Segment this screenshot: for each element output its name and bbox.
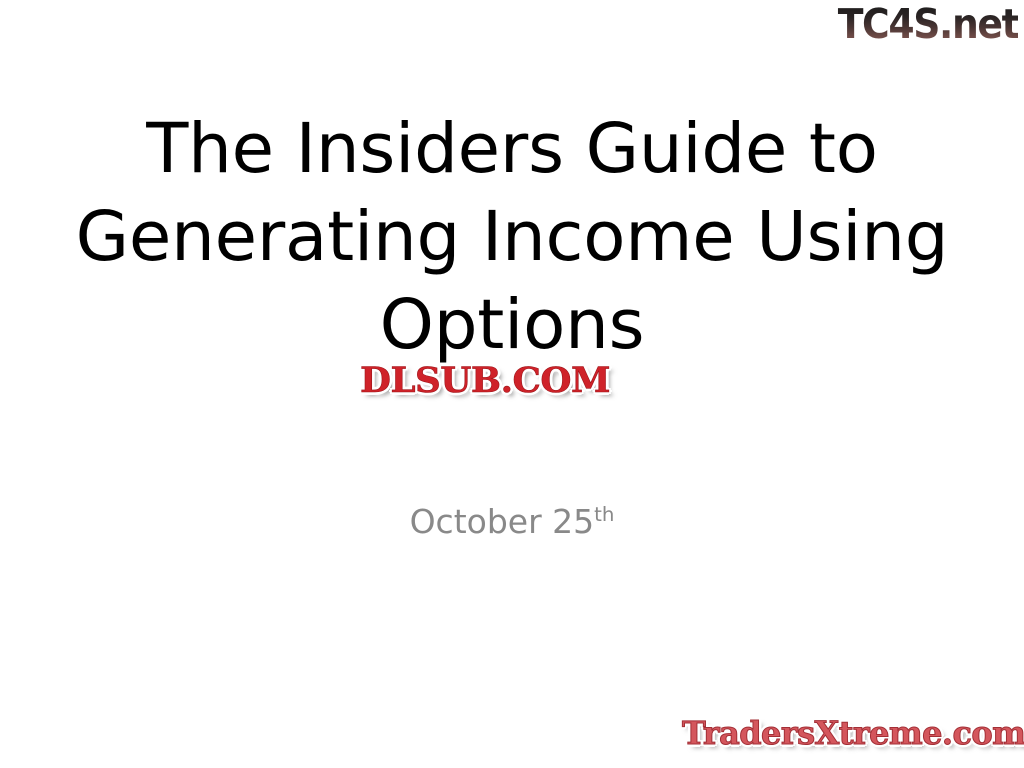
title-line-1: The Insiders Guide to <box>62 105 962 193</box>
title-line-2: Generating Income Using <box>62 193 962 281</box>
slide-title: The Insiders Guide to Generating Income … <box>62 105 962 369</box>
tc4s-logo: TC4S.net <box>837 2 1018 46</box>
subtitle-date: October 25th <box>410 502 615 541</box>
presentation-slide: TC4S.net The Insiders Guide to Generatin… <box>0 0 1024 768</box>
subtitle-date-text: October 25 <box>410 502 595 541</box>
subtitle-date-ordinal: th <box>594 503 614 526</box>
tradersxtreme-logo: TradersXtreme.com <box>682 714 1024 752</box>
title-line-3: Options <box>62 281 962 369</box>
dlsub-watermark: DLSUB.COM <box>360 362 610 400</box>
slide-subtitle: October 25th <box>0 500 1024 544</box>
